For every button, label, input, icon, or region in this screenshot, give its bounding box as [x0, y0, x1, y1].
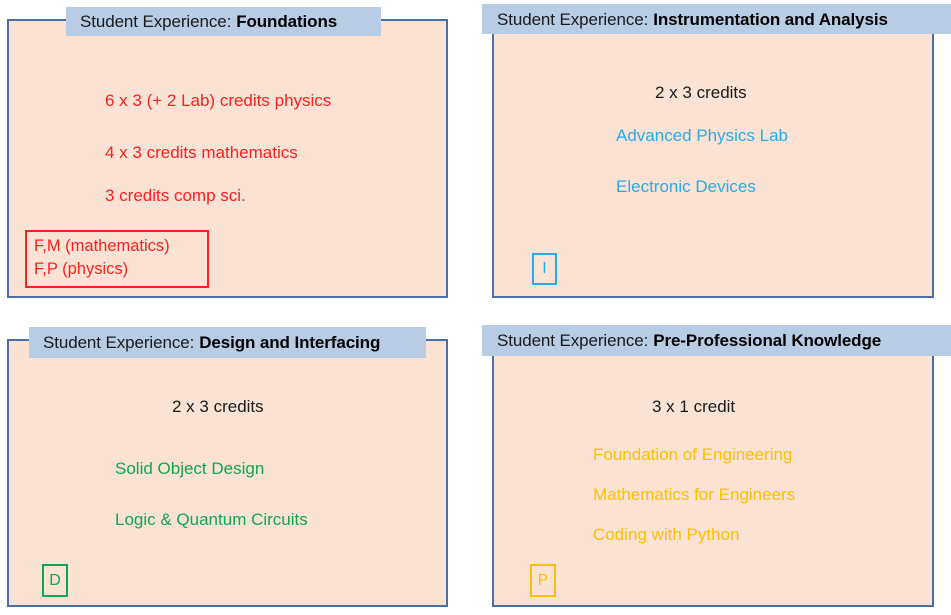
panel-header-topic: Pre-Professional Knowledge: [653, 332, 881, 349]
course-line: Foundation of Engineering: [593, 445, 792, 465]
key-line: F,M (mathematics): [34, 235, 200, 258]
panel-header-topic: Instrumentation and Analysis: [653, 11, 888, 28]
course-line: Electronic Devices: [616, 177, 756, 197]
panel-body-foundations: 6 x 3 (+ 2 Lab) credits physics 4 x 3 cr…: [7, 19, 448, 298]
credit-line: 4 x 3 credits mathematics: [105, 143, 298, 163]
key-box-foundations: F,M (mathematics) F,P (physics): [25, 230, 209, 288]
course-line: Logic & Quantum Circuits: [115, 510, 308, 530]
credit-line: 6 x 3 (+ 2 Lab) credits physics: [105, 91, 331, 111]
course-line: Mathematics for Engineers: [593, 485, 795, 505]
credit-line: 2 x 3 credits: [172, 397, 264, 417]
panel-header-prefix: Student Experience:: [497, 332, 648, 349]
panel-body-instrumentation-and-analysis: 2 x 3 credits Advanced Physics Lab Elect…: [492, 31, 934, 298]
credit-line: 3 credits comp sci.: [105, 186, 246, 206]
panel-header-instrumentation-and-analysis: Student Experience: Instrumentation and …: [482, 4, 951, 34]
panel-body-design-and-interfacing: 2 x 3 credits Solid Object Design Logic …: [7, 339, 448, 607]
badge-instrumentation: I: [532, 253, 557, 285]
course-line: Advanced Physics Lab: [616, 126, 788, 146]
credit-line: 3 x 1 credit: [652, 397, 735, 417]
badge-design: D: [42, 564, 68, 597]
panel-header-prefix: Student Experience:: [497, 11, 648, 28]
credit-line: 2 x 3 credits: [655, 83, 747, 103]
panel-body-pre-professional-knowledge: 3 x 1 credit Foundation of Engineering M…: [492, 351, 934, 607]
course-line: Solid Object Design: [115, 459, 264, 479]
badge-pre-professional: P: [530, 564, 556, 597]
key-line: F,P (physics): [34, 258, 200, 281]
diagram-canvas: Student Experience: Foundations 6 x 3 (+…: [0, 0, 951, 615]
course-line: Coding with Python: [593, 525, 739, 545]
